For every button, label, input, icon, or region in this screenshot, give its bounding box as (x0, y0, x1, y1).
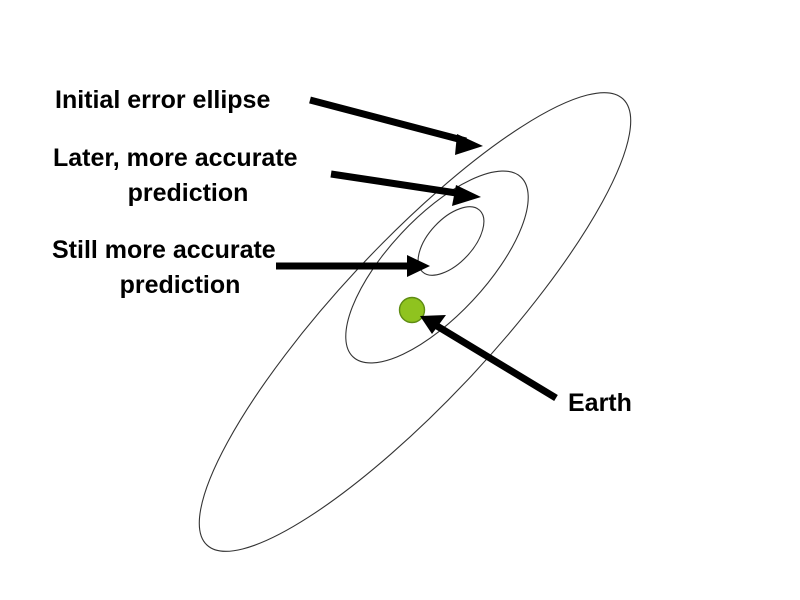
diagram-canvas: Initial error ellipse Later, more accura… (0, 0, 800, 600)
label-earth: Earth (568, 389, 632, 417)
label-still-more-accurate-line2: prediction (120, 271, 241, 299)
arrow-to-outer-ellipse (310, 100, 483, 155)
arrow-to-earth (420, 315, 556, 398)
label-later-prediction-line1: Later, more accurate (53, 144, 298, 172)
inner-error-ellipse (406, 195, 495, 286)
arrow-to-middle-ellipse (331, 174, 481, 206)
label-later-prediction-line2: prediction (128, 179, 249, 207)
arrow-head-icon (452, 185, 481, 206)
label-initial-error-ellipse: Initial error ellipse (55, 86, 270, 114)
error-ellipse-diagram: Initial error ellipse Later, more accura… (0, 0, 800, 600)
earth-marker-icon (400, 298, 425, 323)
arrow-head-icon (455, 134, 483, 155)
label-still-more-accurate-line1: Still more accurate (52, 236, 276, 264)
